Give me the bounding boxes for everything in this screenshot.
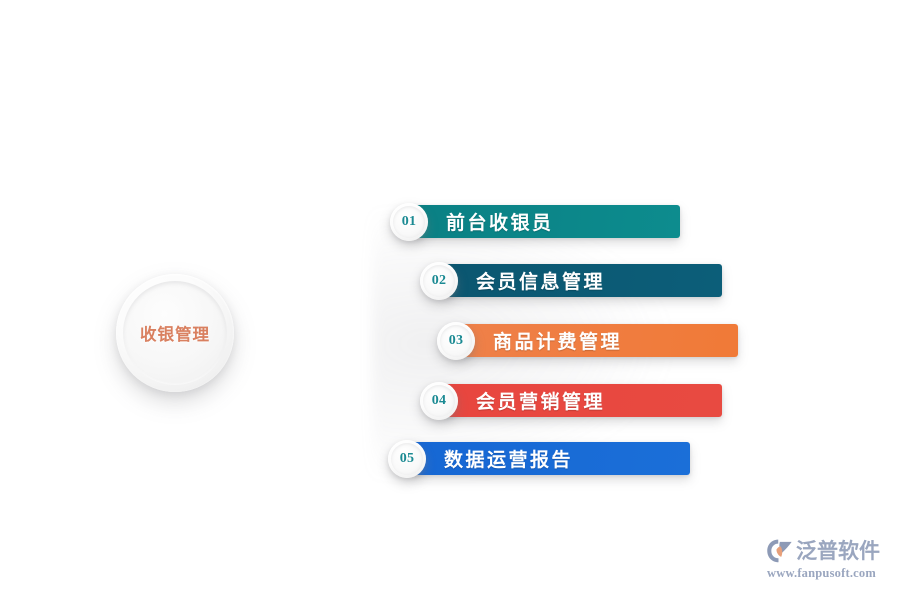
brand-url: www.fanpusoft.com (767, 566, 876, 581)
item-label: 前台收银员 (446, 208, 554, 235)
item-label: 会员信息管理 (476, 267, 605, 294)
item-number: 03 (449, 333, 464, 349)
item-label: 数据运营报告 (444, 445, 573, 472)
infographic-canvas: 收银管理 前台收银员 01 会员信息管理 02 商品计费管理 03 会员营销管理… (0, 0, 900, 600)
item-number-badge[interactable]: 05 (388, 440, 426, 478)
item-bar[interactable]: 前台收银员 (414, 205, 680, 238)
fanpu-logo-icon (766, 538, 793, 564)
brand-watermark: 泛普软件 www.fanpusoft.com (766, 536, 892, 584)
item-number-badge[interactable]: 03 (437, 322, 475, 360)
item-number: 04 (432, 393, 447, 409)
item-label: 会员营销管理 (476, 387, 605, 414)
item-number-badge[interactable]: 04 (420, 382, 458, 420)
item-number-badge[interactable]: 02 (420, 262, 458, 300)
hub-circle[interactable]: 收银管理 (116, 274, 234, 392)
brand-row: 泛普软件 (766, 536, 880, 566)
item-number: 01 (402, 214, 417, 230)
item-bar[interactable]: 商品计费管理 (461, 324, 738, 357)
item-number-badge[interactable]: 01 (390, 203, 428, 241)
brand-name: 泛普软件 (796, 538, 880, 564)
item-bar[interactable]: 会员营销管理 (444, 384, 722, 417)
item-number: 05 (400, 451, 415, 467)
item-bar[interactable]: 数据运营报告 (412, 442, 690, 475)
item-number: 02 (432, 273, 447, 289)
item-label: 商品计费管理 (493, 327, 622, 354)
item-bar[interactable]: 会员信息管理 (444, 264, 722, 297)
hub-label: 收银管理 (140, 321, 210, 345)
